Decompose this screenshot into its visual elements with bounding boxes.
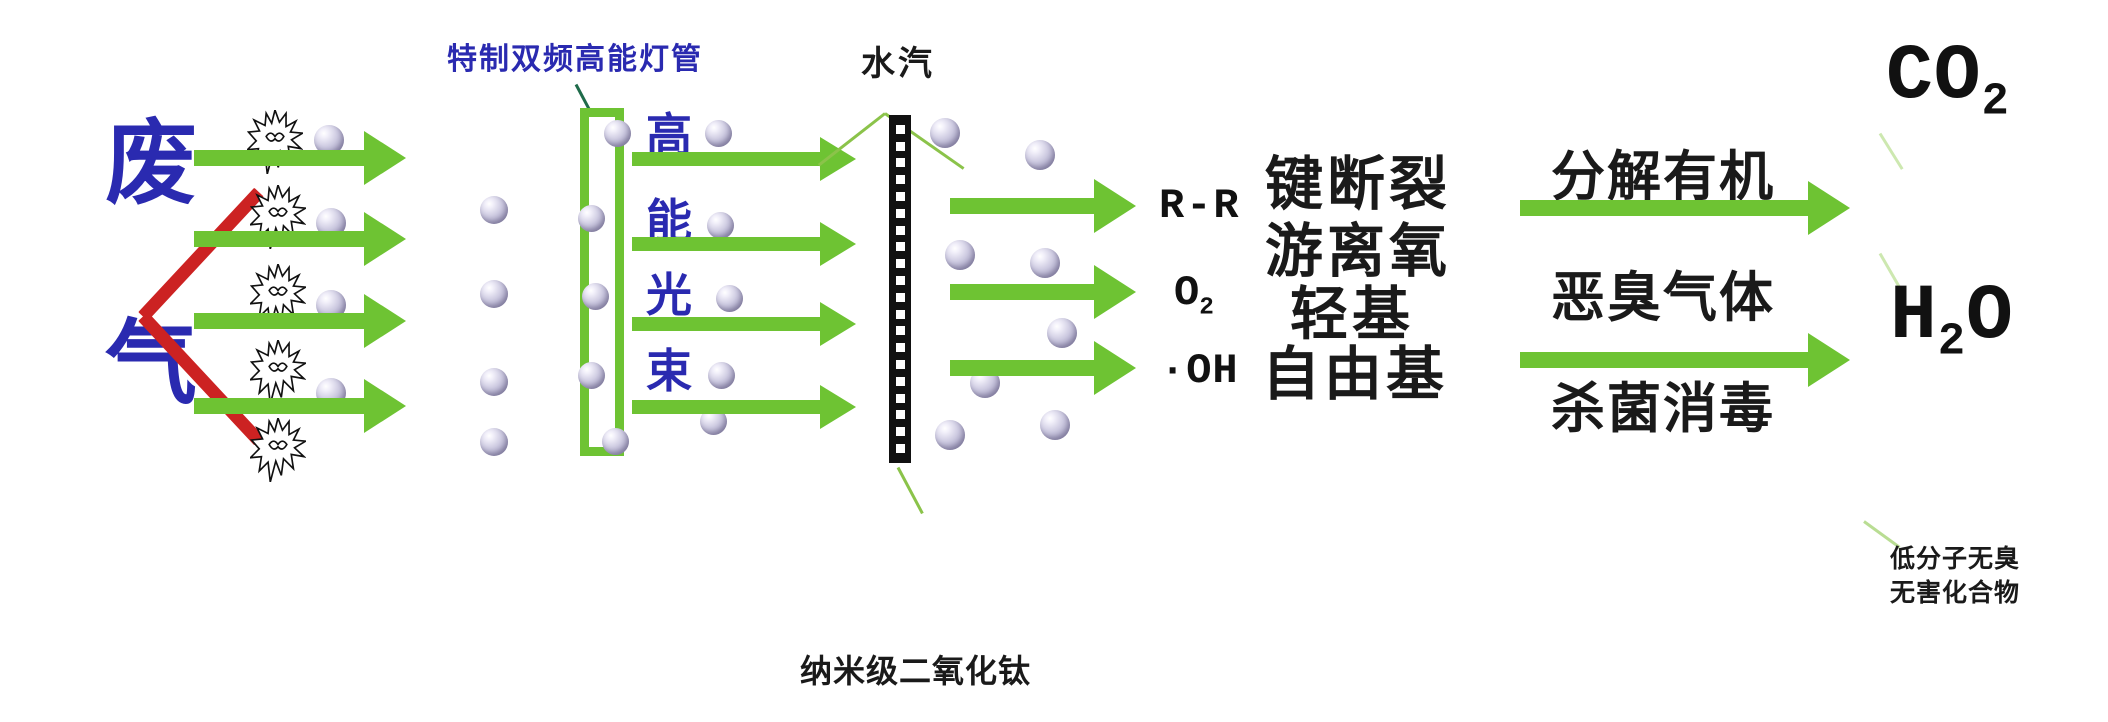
- water-vapor-label: 水汽: [861, 47, 935, 81]
- arrow-shaft: [632, 400, 822, 414]
- reaction-line-1: 游离氧: [1265, 222, 1451, 280]
- product-h2o: H2O: [1890, 278, 2014, 365]
- arrow-head: [364, 294, 406, 348]
- arrow-shaft: [632, 317, 822, 331]
- uv-lamp-tube-icon: [580, 108, 624, 456]
- radical-label-oh: ·OH: [1160, 350, 1239, 392]
- product-connector-co2: [1879, 133, 1904, 170]
- molecule-bead-icon: [1040, 410, 1070, 440]
- molecule-bead-icon: [1030, 248, 1060, 278]
- arrow-head: [1094, 265, 1136, 319]
- radical-arrow-rr: [950, 198, 1136, 214]
- arrow-head: [820, 222, 856, 266]
- inlet-arrow: [194, 150, 406, 166]
- molecule-bead-icon: [930, 118, 960, 148]
- molecule-bead-icon: [708, 362, 735, 389]
- reaction-line-0: 键断裂: [1265, 155, 1451, 213]
- effect-label-1: 恶臭气体: [1551, 271, 1775, 325]
- tio2-caption: 纳米级二氧化钛: [800, 655, 1031, 687]
- molecule-bead-icon: [480, 196, 508, 224]
- arrow-shaft: [950, 198, 1096, 214]
- molecule-bead-icon: [480, 428, 508, 456]
- arrow-shaft: [194, 150, 366, 166]
- arrow-head: [364, 212, 406, 266]
- tio2-perforated-plate-icon: [889, 115, 911, 463]
- arrow-head: [1094, 341, 1136, 395]
- molecule-bead-icon: [578, 205, 605, 232]
- radical-arrow-o2: [950, 284, 1136, 300]
- inlet-arrow: [194, 313, 406, 329]
- inlet-arrow: [194, 231, 406, 247]
- arrow-shaft: [194, 398, 366, 414]
- molecule-bead-icon: [480, 368, 508, 396]
- reaction-line-2: 轻基: [1290, 285, 1414, 343]
- arrow-shaft: [194, 231, 366, 247]
- radical-label-o2: O2: [1174, 272, 1214, 321]
- arrow-head: [1808, 181, 1850, 235]
- effect-arrow-top: [1520, 200, 1850, 216]
- arrow-shaft: [950, 360, 1096, 376]
- molecule-bead-icon: [582, 283, 609, 310]
- beam-char-3: 束: [646, 348, 692, 394]
- molecule-bead-icon: [604, 120, 631, 147]
- molecule-bead-icon: [707, 212, 734, 239]
- effect-label-0: 分解有机: [1551, 150, 1775, 204]
- o2-subscript: 2: [1199, 294, 1214, 321]
- tio2-leader-line: [897, 467, 924, 514]
- inlet-arrow: [194, 398, 406, 414]
- arrow-head: [364, 379, 406, 433]
- beam-char-2: 光: [646, 272, 692, 318]
- arrow-head: [820, 302, 856, 346]
- molecule-bead-icon: [578, 362, 605, 389]
- lamp-tube-title: 特制双频高能灯管: [447, 45, 703, 75]
- h2o-subscript: 2: [1938, 316, 1966, 368]
- radical-label-rr: R-R: [1159, 185, 1241, 227]
- starburst-icon: [250, 340, 306, 404]
- molecule-bead-icon: [602, 428, 629, 455]
- h2o-oxygen: O: [1966, 273, 2014, 361]
- arrow-shaft: [1520, 200, 1810, 216]
- product-co2: CO2: [1886, 38, 2010, 125]
- effect-label-2: 杀菌消毒: [1551, 382, 1775, 436]
- arrow-shaft: [632, 152, 822, 166]
- co2-subscript: 2: [1982, 76, 2010, 128]
- beam-arrow: [632, 317, 856, 331]
- arrow-head: [1808, 333, 1850, 387]
- starburst-icon: [250, 418, 306, 482]
- arrow-head: [820, 385, 856, 429]
- molecule-bead-icon: [1047, 318, 1077, 348]
- h2o-hydrogen: H: [1890, 273, 1938, 361]
- photocatalytic-oxidation-diagram: 废 气: [0, 0, 2108, 722]
- molecule-bead-icon: [1025, 140, 1055, 170]
- beam-arrow: [632, 400, 856, 414]
- molecule-bead-icon: [480, 280, 508, 308]
- molecule-bead-icon: [716, 285, 743, 312]
- reaction-line-3: 自由基: [1262, 345, 1448, 403]
- co2-element: CO: [1886, 33, 1982, 121]
- arrow-shaft: [632, 237, 822, 251]
- o2-element: O: [1174, 269, 1199, 317]
- effect-arrow-bottom: [1520, 352, 1850, 368]
- molecule-bead-icon: [935, 420, 965, 450]
- product-note-line-1: 低分子无臭: [1890, 546, 2020, 571]
- molecule-bead-icon: [945, 240, 975, 270]
- arrow-shaft: [1520, 352, 1810, 368]
- arrow-head: [364, 131, 406, 185]
- arrow-head: [1094, 179, 1136, 233]
- product-note-line-2: 无害化合物: [1890, 580, 2020, 605]
- molecule-bead-icon: [705, 120, 732, 147]
- radical-arrow-oh: [950, 360, 1136, 376]
- arrow-shaft: [194, 313, 366, 329]
- beam-arrow: [632, 237, 856, 251]
- input-char-waste: 废: [105, 118, 197, 210]
- arrow-shaft: [950, 284, 1096, 300]
